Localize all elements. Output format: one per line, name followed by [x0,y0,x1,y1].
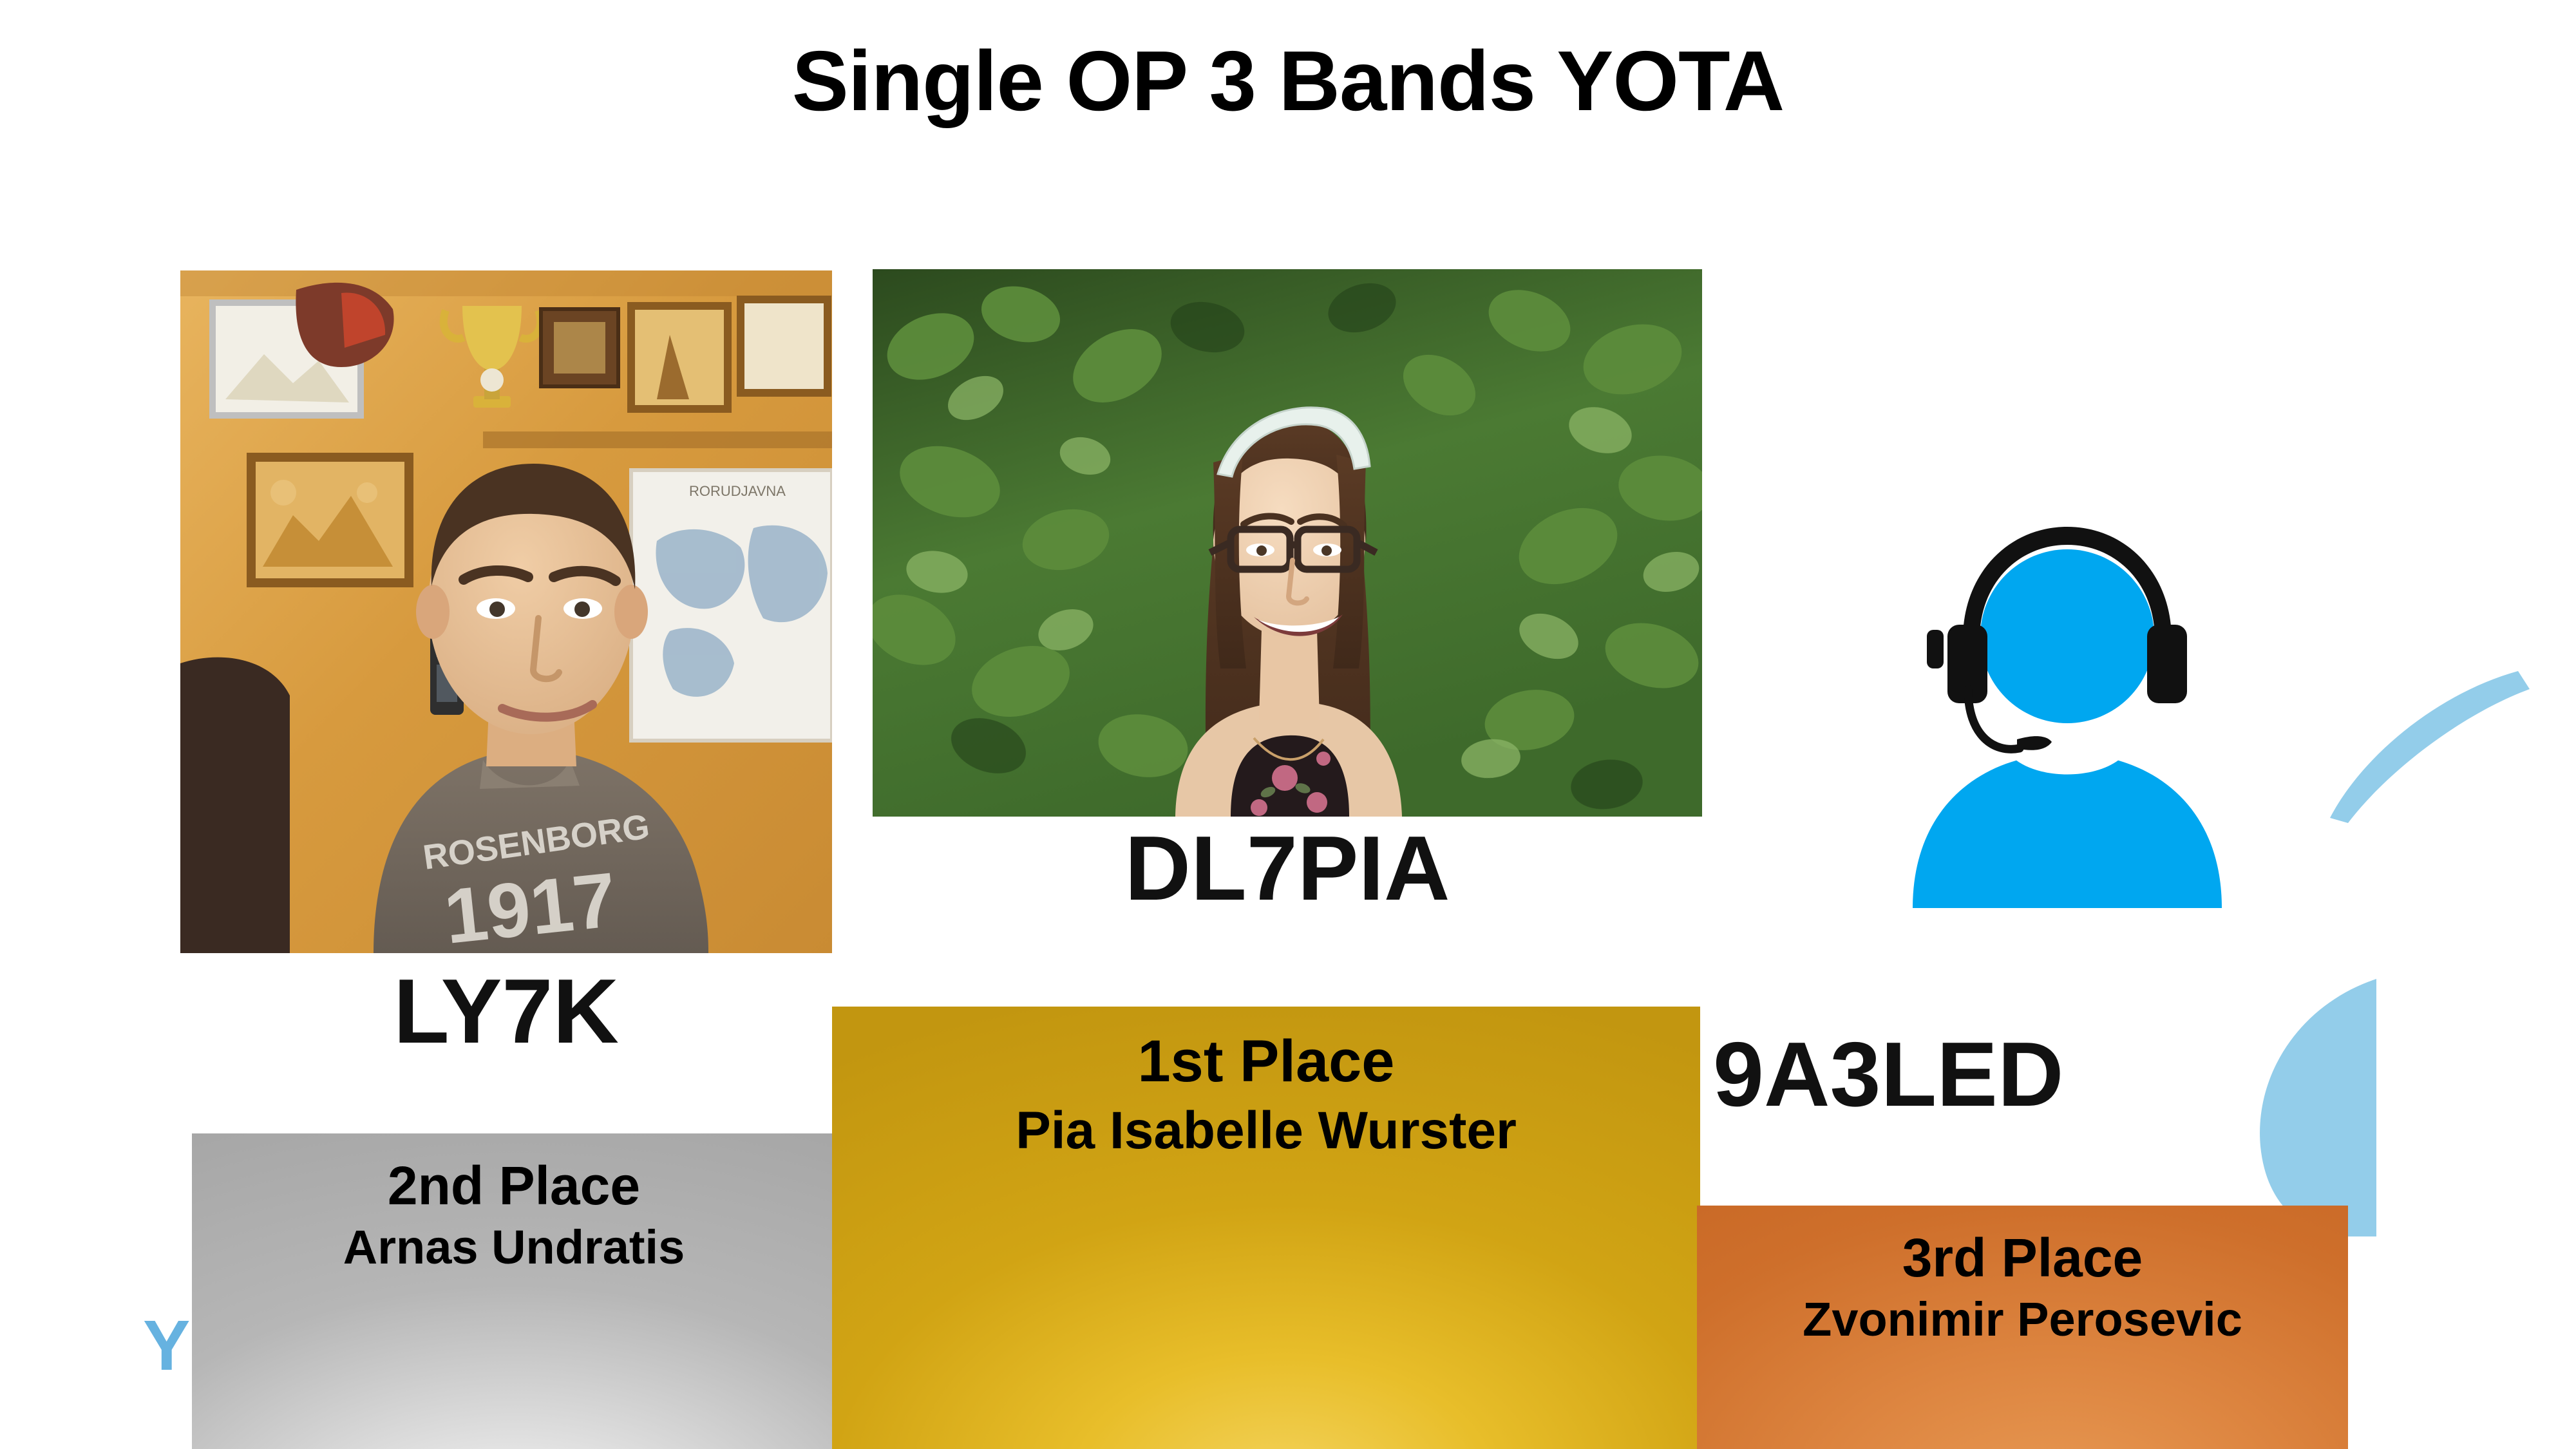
svg-text:1917: 1917 [440,857,620,953]
winner-name-2nd: Arnas Undratis [192,1221,836,1274]
place-label-3rd: 3rd Place [1697,1227,2348,1288]
headset-operator-avatar-icon [1906,496,2228,908]
decorative-swoosh-top [2325,657,2570,824]
podium-3rd-place: 3rd Place Zvonimir Perosevic [1697,1206,2348,1449]
callsign-label-9a3led: 9A3LED [1713,1029,2357,1121]
podium-1st-place: 1st Place Pia Isabelle Wurster [832,1007,1700,1449]
page-title: Single OP 3 Bands YOTA [0,32,2576,129]
callsign-label-ly7k: LY7K [180,966,832,1057]
place-label-1st: 1st Place [832,1028,1700,1095]
winner-name-3rd: Zvonimir Perosevic [1697,1293,2348,1347]
photo-dl7pia-operator [873,269,1702,817]
winner-name-1st: Pia Isabelle Wurster [832,1101,1700,1160]
photo-ly7k-operator: RORUDJAVNA [180,270,832,953]
svg-text:RORUDJAVNA: RORUDJAVNA [689,483,786,499]
callsign-label-dl7pia: DL7PIA [873,823,1702,914]
yota-logo-mark: Y [143,1311,189,1381]
place-label-2nd: 2nd Place [192,1155,836,1216]
podium-2nd-place: 2nd Place Arnas Undratis [192,1133,836,1449]
